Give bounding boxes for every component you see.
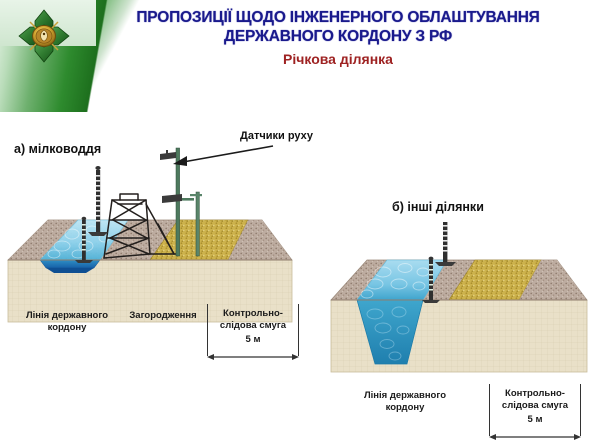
border-line-text-2: кордону bbox=[340, 402, 470, 414]
border-line-text-1: Лінія державного bbox=[340, 390, 470, 402]
page-header: ПРОПОЗИЦІЇ ЩОДО ІНЖЕНЕРНОГО ОБЛАШТУВАННЯ… bbox=[0, 0, 600, 112]
border-line-text-2: кордону bbox=[8, 322, 126, 334]
title-line-1: ПРОПОЗИЦІЇ ЩОДО ІНЖЕНЕРНОГО ОБЛАШТУВАННЯ bbox=[88, 8, 588, 27]
diagram-a-control-strip-width: 5 м bbox=[209, 334, 297, 346]
control-strip-text-1: Контрольно- bbox=[491, 388, 579, 400]
diagram-b-control-strip-label: Контрольно- слідова смуга bbox=[491, 388, 579, 411]
motion-sensors-arrow bbox=[165, 140, 275, 170]
diagram-a-dimension-arrow bbox=[206, 352, 300, 362]
border-line-text-1: Лінія державного bbox=[8, 310, 126, 322]
page-subtitle: Річкова ділянка bbox=[88, 51, 588, 68]
title-line-2: ДЕРЖАВНОГО КОРДОНУ З РФ bbox=[88, 27, 588, 46]
diagram-a-border-line-label: Лінія державного кордону bbox=[8, 310, 126, 333]
ukraine-border-guard-cross-emblem bbox=[17, 8, 71, 64]
control-strip-text-1: Контрольно- bbox=[209, 308, 297, 320]
diagram-a-caption: а) мілководдя bbox=[14, 142, 101, 156]
diagram-a-barrier-label: Загородження bbox=[120, 310, 206, 322]
control-strip-text-2: слідова смуга bbox=[491, 400, 579, 412]
diagram-a-control-strip-label: Контрольно- слідова смуга bbox=[209, 308, 297, 331]
diagram-canvas: а) мілководдя Датчики руху Лінія державн… bbox=[0, 112, 600, 448]
diagram-b-control-strip-width: 5 м bbox=[491, 414, 579, 426]
diagram-b-caption: б) інші ділянки bbox=[392, 200, 484, 214]
diagram-b-border-line-label: Лінія державного кордону bbox=[340, 390, 470, 413]
diagram-b-dimension-arrow bbox=[488, 432, 582, 442]
control-strip-text-2: слідова смуга bbox=[209, 320, 297, 332]
title-block: ПРОПОЗИЦІЇ ЩОДО ІНЖЕНЕРНОГО ОБЛАШТУВАННЯ… bbox=[88, 8, 588, 68]
